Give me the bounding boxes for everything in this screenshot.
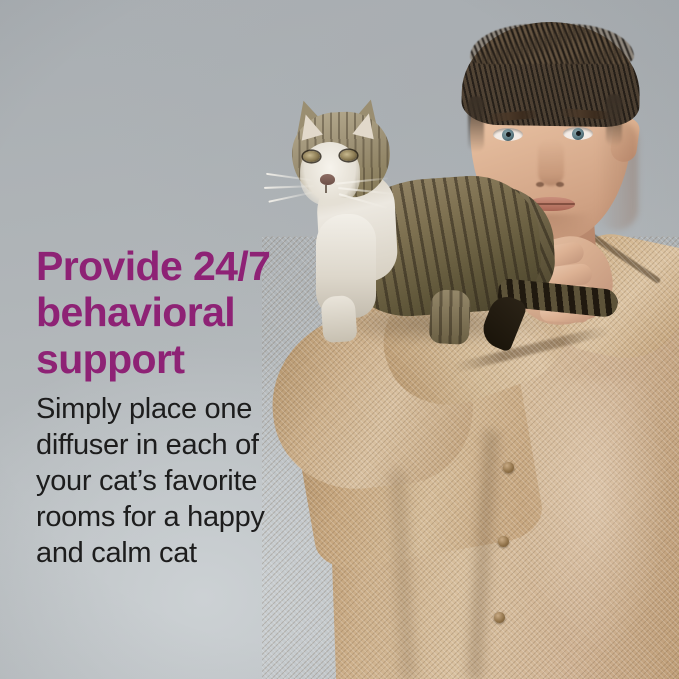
body-line-2: diffuser in each of [36, 429, 259, 461]
cat-eye-left [303, 151, 320, 162]
body-line-3: your cat’s favorite [36, 465, 257, 497]
cat-hind-leg [429, 289, 472, 345]
headline: Provide 24/7behavioralsupport [36, 243, 336, 382]
headline-line-3: support [36, 336, 184, 382]
body-copy: Simply place onediffuser in each ofyour … [36, 392, 318, 572]
cat-mouth [325, 185, 327, 193]
body-line-1: Simply place one [36, 393, 252, 425]
cat-eye-right [340, 150, 357, 161]
body-line-5: and calm cat [36, 537, 197, 569]
cat-nose [320, 174, 335, 185]
body-line-4: rooms for a happy [36, 501, 265, 533]
headline-line-2: behavioral [36, 289, 235, 335]
headline-line-1: Provide 24/7 [36, 243, 270, 289]
product-lifestyle-image: Provide 24/7behavioralsupport Simply pla… [0, 0, 679, 679]
